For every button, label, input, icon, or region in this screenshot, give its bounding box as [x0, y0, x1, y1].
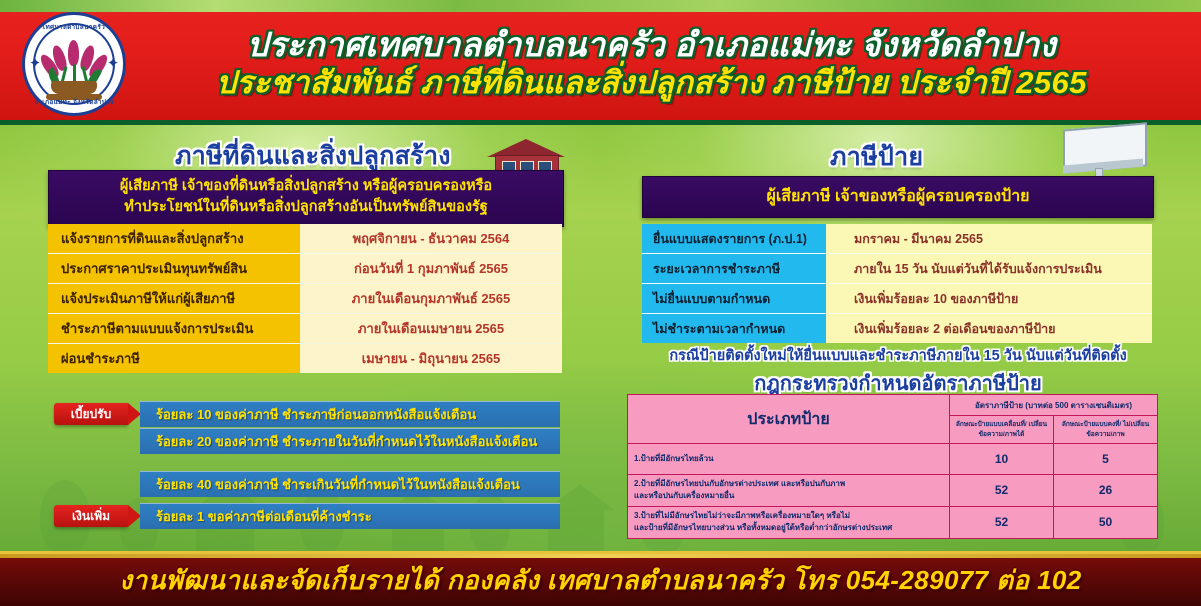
table-row: ประกาศราคาประเมินทุนทรัพย์สิน ก่อนวันที่…: [48, 254, 562, 284]
sign-row-label: ไม่ยื่นแบบตามกำหนด: [642, 284, 826, 313]
signboard-tax-payer-banner: ผู้เสียภาษี เจ้าของหรือผู้ครอบครองป้าย: [642, 176, 1154, 218]
penalty-bar: ร้อยละ 1 ขอค่าภาษีต่อเดือนที่ค้างชำระ: [140, 503, 560, 529]
signboard-rate-table: ประเภทป้าย อัตราภาษีป้าย (บาทต่อ 500 ตาร…: [627, 394, 1158, 539]
rate-row-moving-value: 10: [950, 444, 1054, 474]
sign-row-label: ระยะเวลาการชำระภาษี: [642, 254, 826, 283]
seal-star-left-icon: ✦: [28, 57, 42, 71]
land-tax-payer-banner: ผู้เสียภาษี เจ้าของที่ดินหรือสิ่งปลูกสร้…: [48, 170, 564, 227]
rate-row-type-line1: 3.ป้ายที่ไม่มีอักษรไทยไม่ว่าจะมีภาพหรือเ…: [634, 510, 945, 522]
rate-subheader-fixed: ลักษณะป้ายแบบคงที่/ ไม่เปลี่ยนข้อความ/ภา…: [1054, 416, 1157, 443]
header-titles: ประกาศเทศบาลตำบลนาครัว อำเภอแม่ทะ จังหวั…: [128, 26, 1201, 101]
rate-row-type-line2: และหรือปนกับเครื่องหมายอื่น: [634, 490, 945, 502]
rate-row-type-line1: 1.ป้ายที่มีอักษรไทยล้วน: [634, 453, 945, 465]
table-row: 2.ป้ายที่มีอักษรไทยปนกับอักษรต่างประเทศ …: [628, 475, 1157, 507]
rate-row-type-line1: 2.ป้ายที่มีอักษรไทยปนกับอักษรต่างประเทศ …: [634, 478, 945, 490]
rate-col-rate-header: อัตราภาษีป้าย (บาทต่อ 500 ตารางเซนติเมตร…: [950, 395, 1157, 416]
land-banner-line1: ผู้เสียภาษี เจ้าของที่ดินหรือสิ่งปลูกสร้…: [49, 176, 563, 197]
table-row: ชำระภาษีตามแบบแจ้งการประเมิน ภายในเดือนเ…: [48, 314, 562, 344]
sign-row-label: ยื่นแบบแสดงรายการ (ภ.ป.1): [642, 224, 826, 253]
page-subtitle: ประชาสัมพันธ์ ภาษีที่ดินและสิ่งปลูกสร้าง…: [128, 65, 1175, 101]
land-tax-schedule-table: แจ้งรายการที่ดินและสิ่งปลูกสร้าง พฤศจิกา…: [48, 224, 562, 373]
land-row-value: ภายในเดือนกุมภาพันธ์ 2565: [300, 284, 562, 313]
sign-row-value: เงินเพิ่มร้อยละ 10 ของภาษีป้าย: [826, 284, 1152, 313]
rate-row-type: 2.ป้ายที่มีอักษรไทยปนกับอักษรต่างประเทศ …: [628, 475, 950, 506]
footer-contact-text: งานพัฒนาและจัดเก็บรายได้ กองคลัง เทศบาลต…: [119, 560, 1081, 601]
land-row-value: ภายในเดือนเมษายน 2565: [300, 314, 562, 343]
table-row: 3.ป้ายที่ไม่มีอักษรไทยไม่ว่าจะมีภาพหรือเ…: [628, 507, 1157, 538]
signboard-new-install-note: กรณีป้ายติดตั้งใหม่ให้ยื่นแบบและชำระภาษี…: [642, 344, 1154, 367]
table-row: แจ้งรายการที่ดินและสิ่งปลูกสร้าง พฤศจิกา…: [48, 224, 562, 254]
sign-row-value: ภายใน 15 วัน นับแต่วันที่ได้รับแจ้งการปร…: [826, 254, 1152, 283]
seal-arc-top-text: เทศบาลตำบลนาครัว: [20, 22, 128, 32]
land-row-value: เมษายน - มิถุนายน 2565: [300, 344, 562, 373]
seal-star-right-icon: ✦: [106, 57, 120, 71]
sign-row-label: ไม่ชำระตามเวลากำหนด: [642, 314, 826, 343]
penalty-bar: ร้อยละ 10 ของค่าภาษี ชำระภาษีก่อนออกหนัง…: [140, 401, 560, 427]
rate-row-fixed-value: 5: [1054, 444, 1157, 474]
penalty-bar: ร้อยละ 20 ของค่าภาษี ชำระภายในวันที่กำหน…: [140, 428, 560, 454]
rate-row-fixed-value: 50: [1054, 507, 1157, 538]
penalty-surcharge-tag: เงินเพิ่ม: [54, 505, 128, 527]
seal-arc-bottom-text: อำเภอแม่ทะ จังหวัดลำปาง: [20, 97, 128, 107]
land-banner-line2: ทำประโยชน์ในที่ดินหรือสิ่งปลูกสร้างอันเป…: [49, 197, 563, 218]
table-row: ผ่อนชำระภาษี เมษายน - มิถุนายน 2565: [48, 344, 562, 373]
penalty-bar: ร้อยละ 40 ของค่าภาษี ชำระเกินวันที่กำหนด…: [140, 471, 560, 497]
land-row-value: พฤศจิกายน - ธันวาคม 2564: [300, 224, 562, 253]
poster-root: เทศบาลตำบลนาครัว ✦ ✦ อำเภอแม่ท: [0, 0, 1201, 606]
sign-row-value: มกราคม - มีนาคม 2565: [826, 224, 1152, 253]
table-row: ไม่ชำระตามเวลากำหนด เงินเพิ่มร้อยละ 2 ต่…: [642, 314, 1152, 343]
signboard-tax-section-title: ภาษีป้าย: [830, 137, 923, 177]
rate-row-type: 3.ป้ายที่ไม่มีอักษรไทยไม่ว่าจะมีภาพหรือเ…: [628, 507, 950, 538]
page-header: เทศบาลตำบลนาครัว ✦ ✦ อำเภอแม่ท: [0, 0, 1201, 125]
rate-row-type: 1.ป้ายที่มีอักษรไทยล้วน: [628, 444, 950, 474]
table-row: 1.ป้ายที่มีอักษรไทยล้วน 10 5: [628, 444, 1157, 475]
table-row: ไม่ยื่นแบบตามกำหนด เงินเพิ่มร้อยละ 10 ขอ…: [642, 284, 1152, 314]
page-footer: งานพัฒนาและจัดเก็บรายได้ กองคลัง เทศบาลต…: [0, 551, 1201, 606]
page-title: ประกาศเทศบาลตำบลนาครัว อำเภอแม่ทะ จังหวั…: [128, 26, 1175, 64]
sign-row-value: เงินเพิ่มร้อยละ 2 ต่อเดือนของภาษีป้าย: [826, 314, 1152, 343]
signboard-tax-schedule-table: ยื่นแบบแสดงรายการ (ภ.ป.1) มกราคม - มีนาค…: [642, 224, 1152, 343]
land-row-label: ประกาศราคาประเมินทุนทรัพย์สิน: [48, 254, 300, 283]
table-row: ยื่นแบบแสดงรายการ (ภ.ป.1) มกราคม - มีนาค…: [642, 224, 1152, 254]
land-row-label: ผ่อนชำระภาษี: [48, 344, 300, 373]
rate-row-moving-value: 52: [950, 507, 1054, 538]
land-row-label: แจ้งรายการที่ดินและสิ่งปลูกสร้าง: [48, 224, 300, 253]
rate-row-fixed-value: 26: [1054, 475, 1157, 506]
table-row: แจ้งประเมินภาษีให้แก่ผู้เสียภาษี ภายในเด…: [48, 284, 562, 314]
rate-col-type-header: ประเภทป้าย: [628, 395, 950, 443]
header-top-stripe: [0, 0, 1201, 12]
land-row-label: ชำระภาษีตามแบบแจ้งการประเมิน: [48, 314, 300, 343]
municipal-seal-logo: เทศบาลตำบลนาครัว ✦ ✦ อำเภอแม่ท: [20, 10, 128, 118]
rate-row-moving-value: 52: [950, 475, 1054, 506]
land-row-value: ก่อนวันที่ 1 กุมภาพันธ์ 2565: [300, 254, 562, 283]
rate-subheader-moving: ลักษณะป้ายแบบเคลื่อนที่/ เปลี่ยนข้อความ/…: [950, 416, 1054, 443]
rate-table-header: ประเภทป้าย อัตราภาษีป้าย (บาทต่อ 500 ตาร…: [628, 395, 1157, 444]
penalty-fine-tag: เบี้ยปรับ: [54, 403, 128, 425]
table-row: ระยะเวลาการชำระภาษี ภายใน 15 วัน นับแต่ว…: [642, 254, 1152, 284]
rate-row-type-line2: และป้ายที่มีอักษรไทยบางส่วน หรือทั้งหมดอ…: [634, 522, 945, 534]
footer-gold-strip: [0, 554, 1201, 558]
land-row-label: แจ้งประเมินภาษีให้แก่ผู้เสียภาษี: [48, 284, 300, 313]
seal-lotus-emblem: [44, 40, 104, 86]
